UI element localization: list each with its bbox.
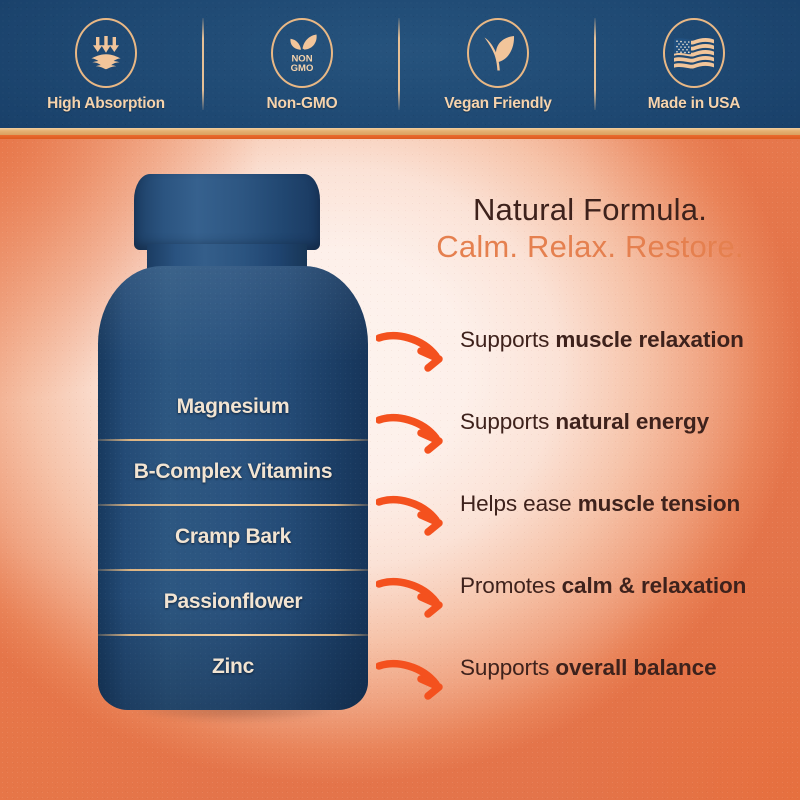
badge-label: High Absorption [47,95,165,113]
curved-arrow-icon [376,328,456,382]
badge-non-gmo: NON GMO Non-GMO [204,10,400,118]
benefit-plain: Promotes [460,573,562,598]
headline-line-2: Calm. Relax. Restore. [388,229,792,266]
benefit-bold: natural energy [555,409,709,434]
badge-list: High Absorption NON GMO Non-GMO [0,0,800,128]
non-gmo-leaf-icon: NON GMO [281,31,323,75]
supplement-bottle: Magnesium B-Complex Vitamins Cramp Bark … [92,174,376,734]
ingredient-row: Passionflower [98,569,368,634]
ingredient-row: Zinc [98,634,368,699]
badge-made-in-usa: Made in USA [596,10,792,118]
curved-arrow-icon [376,492,456,546]
curved-arrow-icon [376,410,456,464]
benefit-list: Supports muscle relaxation Supports natu… [376,326,794,736]
benefit-plain: Supports [460,655,555,680]
badge-label: Non-GMO [267,95,338,113]
high-absorption-icon [86,33,126,73]
bottle-cap [134,174,320,250]
ingredient-label: Zinc [212,655,254,679]
vegan-leaf-icon [478,31,518,75]
badge-ring: NON GMO [271,18,333,88]
bottle-body: Magnesium B-Complex Vitamins Cramp Bark … [98,266,368,710]
benefit-item: Supports natural energy [376,408,794,486]
headline-block: Natural Formula. Calm. Relax. Restore. [388,192,792,265]
benefit-item: Supports muscle relaxation [376,326,794,404]
ingredient-label: B-Complex Vitamins [134,460,332,484]
ingredient-label: Passionflower [164,590,302,614]
benefit-plain: Helps ease [460,491,578,516]
benefit-item: Helps ease muscle tension [376,490,794,568]
benefit-text: Promotes calm & relaxation [460,572,794,601]
ingredient-row: Cramp Bark [98,504,368,569]
ingredient-list: Magnesium B-Complex Vitamins Cramp Bark … [98,374,368,699]
benefit-item: Supports overall balance [376,654,794,732]
orange-divider-rule [0,135,800,139]
gold-divider-rule [0,128,800,135]
trust-badge-header: High Absorption NON GMO Non-GMO [0,0,800,128]
product-infographic: High Absorption NON GMO Non-GMO [0,0,800,800]
headline-line-1: Natural Formula. [388,192,792,229]
badge-label: Made in USA [648,95,741,113]
badge-ring [75,18,137,88]
benefit-text: Supports muscle relaxation [460,326,794,355]
usa-flag-icon [672,36,716,70]
badge-vegan-friendly: Vegan Friendly [400,10,596,118]
ingredient-label: Magnesium [177,395,290,419]
benefit-plain: Supports [460,409,555,434]
ingredient-row: Magnesium [98,374,368,439]
curved-arrow-icon [376,574,456,628]
badge-high-absorption: High Absorption [8,10,204,118]
benefit-bold: muscle tension [578,491,740,516]
benefit-bold: calm & relaxation [562,573,747,598]
benefit-text: Helps ease muscle tension [460,490,794,519]
non-gmo-text-gmo: GMO [291,63,314,74]
badge-ring [467,18,529,88]
ingredient-row: B-Complex Vitamins [98,439,368,504]
benefit-plain: Supports [460,327,555,352]
badge-label: Vegan Friendly [444,95,551,113]
badge-ring [663,18,725,88]
benefit-bold: muscle relaxation [555,327,743,352]
benefit-item: Promotes calm & relaxation [376,572,794,650]
benefit-text: Supports natural energy [460,408,794,437]
benefit-text: Supports overall balance [460,654,794,683]
ingredient-label: Cramp Bark [175,525,291,549]
curved-arrow-icon [376,656,456,710]
benefit-bold: overall balance [555,655,716,680]
